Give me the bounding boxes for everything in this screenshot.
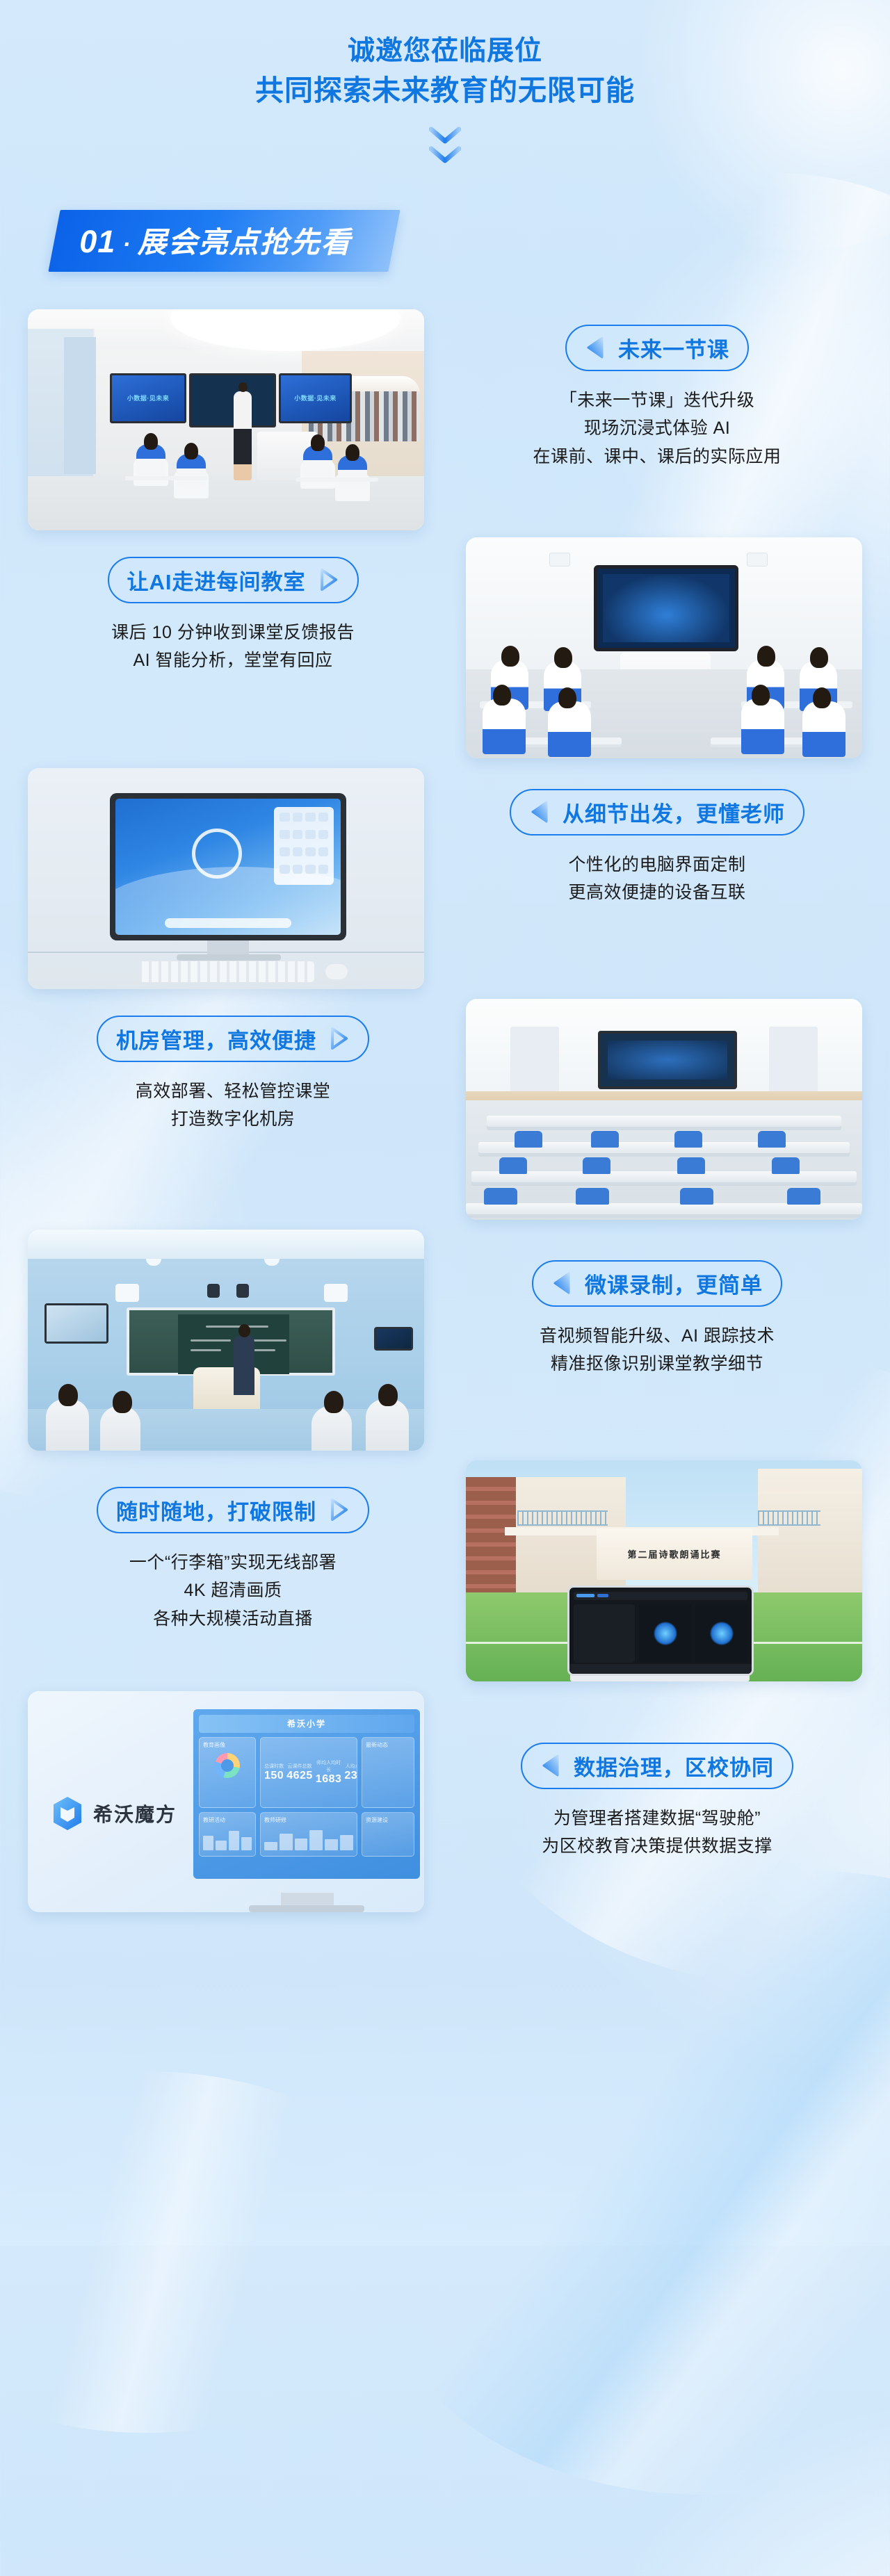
brand-name: 希沃魔方: [93, 1800, 177, 1827]
hero-header: 诚邀您莅临展位 共同探索未来教育的无限可能: [0, 0, 890, 164]
chevron-down-icon-top: [429, 127, 461, 145]
feature-title-text: 微课录制，更简单: [585, 1268, 763, 1299]
dashboard-kpis: 总课时数 150 云课件总数 4625 师均人均时长 1683: [260, 1737, 357, 1808]
kpi-label: 人均点评数: [344, 1763, 357, 1770]
feature-title-pill-ai-in-every-classroom[interactable]: 让AI走进每间教室: [108, 557, 359, 603]
triangle-right-icon: [316, 568, 339, 592]
feature-title-pill-lab-management[interactable]: 机房管理，高效便捷: [97, 1016, 369, 1062]
section-title: 展会亮点抢先看: [138, 219, 352, 261]
desc-line: 4K 超清画质: [129, 1576, 337, 1605]
smart-classroom-display-photo: [466, 537, 862, 758]
triangle-left-icon: [540, 1754, 564, 1777]
feature-description-future-class: 「未来一节课」迭代升级 现场沉浸式体验 AI 在课前、课中、课后的实际应用: [533, 386, 781, 471]
event-banner-text: 第二届诗歌朗诵比赛: [627, 1547, 721, 1560]
feature-title-pill-anywhere-anytime[interactable]: 随时随地，打破限制: [97, 1487, 369, 1533]
dashboard-panel-activity: 教研活动: [199, 1812, 256, 1857]
desc-line: 为管理者搭建数据“驾驶舱”: [542, 1804, 772, 1833]
dashboard-title: 希沃小学: [199, 1715, 414, 1733]
feature-details-teacher: 从细节出发，更懂老师 个性化的电脑界面定制 更高效便捷的设备互联: [0, 768, 890, 989]
event-banner: 第二届诗歌朗诵比赛: [597, 1529, 752, 1580]
panel-label: 教研活动: [203, 1817, 225, 1823]
feature-title-text: 随时随地，打破限制: [116, 1494, 316, 1526]
dashboard-panel-training: 教师研修: [260, 1812, 357, 1857]
kpi-item: 云课件总数 4625: [286, 1763, 313, 1782]
screen-caption-right: 小数据·见未来: [294, 393, 337, 402]
kpi-value: 4625: [286, 1770, 313, 1782]
double-chevron-down-icon: [0, 127, 890, 164]
dashboard-panel-news: 最新动态: [362, 1737, 414, 1808]
seewo-cube-dashboard-photo: 希沃魔方 希沃小学 教育画像 总课时数 1: [28, 1691, 424, 1912]
dashboard-monitor: 希沃小学 教育画像 总课时数 150: [193, 1709, 420, 1879]
desc-line: 精准抠像识别课堂教学细节: [540, 1350, 775, 1378]
feature-microclass-recording: 微课录制，更简单 音视频智能升级、AI 跟踪技术 精准抠像识别课堂教学细节: [0, 1230, 890, 1451]
feature-title-text: 从细节出发，更懂老师: [563, 797, 785, 828]
background-swoosh-5: [0, 2071, 431, 2433]
all-in-one-pc-photo: [28, 768, 424, 989]
triangle-left-icon: [529, 800, 553, 824]
section-number: 01: [79, 224, 115, 260]
hero-line-2: 共同探索未来教育的无限可能: [0, 70, 890, 111]
kpi-value: 1683: [316, 1773, 342, 1786]
dashboard-panel-resources: 资源建设: [362, 1812, 414, 1857]
feature-title-pill-microclass-recording[interactable]: 微课录制，更简单: [532, 1260, 782, 1307]
feature-description-anywhere-anytime: 一个“行李箱”实现无线部署 4K 超清画质 各种大规模活动直播: [129, 1549, 337, 1633]
panel-label: 资源建设: [366, 1817, 388, 1823]
desc-line: 现场沉浸式体验 AI: [533, 414, 781, 443]
kpi-item: 师均人均时长 1683: [316, 1759, 342, 1786]
feature-title-text: 未来一节课: [618, 332, 729, 364]
panel-label: 教育画像: [203, 1742, 225, 1748]
triangle-left-icon: [551, 1271, 575, 1295]
desc-line: 音视频智能升级、AI 跟踪技术: [540, 1322, 775, 1351]
triangle-right-icon: [326, 1027, 350, 1050]
desc-line: 各种大规模活动直播: [129, 1605, 337, 1633]
feature-title-pill-future-class[interactable]: 未来一节课: [565, 325, 749, 371]
kpi-label: 师均人均时长: [316, 1759, 342, 1773]
desc-line: 为区校教育决策提供数据支撑: [542, 1832, 772, 1861]
showroom-classroom-photo: 小数据·见未来 小数据·见未来: [28, 309, 424, 530]
panel-label: 最新动态: [366, 1742, 388, 1748]
hero-line-1: 诚邀您莅临展位: [0, 32, 890, 70]
features-list: 小数据·见未来 小数据·见未来: [0, 309, 890, 1912]
panel-label: 教师研修: [264, 1817, 286, 1823]
feature-title-pill-details-teacher[interactable]: 从细节出发，更懂老师: [510, 789, 804, 835]
kpi-label: 云课件总数: [286, 1763, 313, 1770]
kpi-label: 总课时数: [264, 1763, 284, 1770]
outdoor-live-broadcast-photo: 第二届诗歌朗诵比赛: [466, 1460, 862, 1681]
feature-description-ai-in-every-classroom: 课后 10 分钟收到课堂反馈报告 AI 智能分析，堂堂有回应: [111, 619, 355, 675]
recording-classroom-photo: [28, 1230, 424, 1451]
desc-line: 「未来一节课」迭代升级: [533, 386, 781, 415]
kpi-item: 人均点评数 2314: [344, 1763, 357, 1782]
triangle-left-icon: [585, 336, 608, 359]
kpi-item: 总课时数 150: [264, 1763, 284, 1782]
kpi-value: 2314: [344, 1770, 357, 1782]
screen-caption-left: 小数据·见未来: [127, 393, 170, 402]
section-separator: ·: [122, 231, 130, 259]
section-banner: 01 · 展会亮点抢先看: [48, 210, 400, 272]
feature-lab-management: 机房管理，高效便捷 高效部署、轻松管控课堂 打造数字化机房: [0, 999, 890, 1220]
desc-line: 一个“行李箱”实现无线部署: [129, 1549, 337, 1577]
feature-title-pill-data-governance[interactable]: 数据治理，区校协同: [521, 1743, 793, 1789]
kpi-value: 150: [264, 1770, 284, 1782]
desc-line: 个性化的电脑界面定制: [568, 851, 745, 879]
feature-description-data-governance: 为管理者搭建数据“驾驶舱” 为区校教育决策提供数据支撑: [542, 1804, 772, 1861]
triangle-right-icon: [326, 1498, 350, 1522]
desc-line: 高效部署、轻松管控课堂: [136, 1077, 331, 1106]
feature-ai-in-every-classroom: 让AI走进每间教室 课后 10 分钟收到课堂反馈报告 AI 智能分析，堂堂有回应: [0, 537, 890, 758]
feature-description-lab-management: 高效部署、轻松管控课堂 打造数字化机房: [136, 1077, 331, 1134]
dashboard-panel-portrait: 教育画像: [199, 1737, 256, 1808]
desc-line: 在课前、课中、课后的实际应用: [533, 443, 781, 471]
desc-line: 课后 10 分钟收到课堂反馈报告: [111, 619, 355, 647]
seewo-cube-logo: 希沃魔方: [51, 1795, 177, 1832]
computer-lab-photo: [466, 999, 862, 1220]
feature-title-text: 让AI走进每间教室: [127, 564, 306, 596]
desc-line: AI 智能分析，堂堂有回应: [111, 646, 355, 675]
feature-anywhere-anytime: 第二届诗歌朗诵比赛: [0, 1460, 890, 1681]
feature-title-text: 机房管理，高效便捷: [116, 1023, 316, 1054]
desc-line: 更高效便捷的设备互联: [568, 879, 745, 907]
feature-description-microclass-recording: 音视频智能升级、AI 跟踪技术 精准抠像识别课堂教学细节: [540, 1322, 775, 1378]
feature-description-details-teacher: 个性化的电脑界面定制 更高效便捷的设备互联: [568, 851, 745, 907]
control-panel-device: [567, 1585, 754, 1676]
chevron-down-icon-bottom: [429, 146, 461, 164]
feature-title-text: 数据治理，区校协同: [574, 1750, 774, 1782]
feature-future-class: 小数据·见未来 小数据·见未来: [0, 309, 890, 530]
section-banner-wrapper: 01 · 展会亮点抢先看: [0, 210, 890, 272]
desc-line: 打造数字化机房: [136, 1105, 331, 1134]
feature-data-governance: 希沃魔方 希沃小学 教育画像 总课时数 1: [0, 1691, 890, 1912]
cube-logo-icon: [51, 1795, 83, 1832]
